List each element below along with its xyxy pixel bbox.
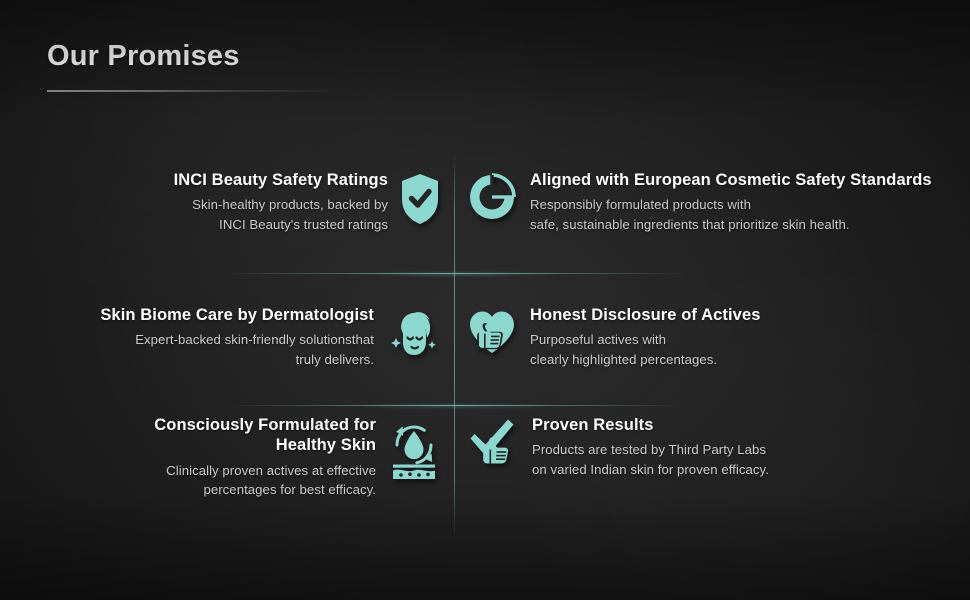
grid-divider-horizontal-bottom <box>225 405 685 406</box>
promise-body: Products are tested by Third Party Labs … <box>532 440 769 478</box>
promise-item-proven-results: Proven Results Products are tested by Th… <box>468 415 898 479</box>
grid-divider-horizontal-top <box>225 273 685 274</box>
promise-body: Responsibly formulated products with saf… <box>530 195 850 233</box>
pie-chart-icon <box>468 173 516 221</box>
promise-title: Consciously Formulated for Healthy Skin <box>100 415 376 456</box>
page-title: Our Promises <box>47 41 347 73</box>
water-drop-skin-icon <box>388 421 440 481</box>
promise-item-european-cosmetic-safety-standards: Aligned with European Cosmetic Safety St… <box>468 170 938 234</box>
promise-body: Expert-backed skin-friendly solutionstha… <box>135 330 374 368</box>
promise-body: Skin-healthy products, backed by INCI Be… <box>192 195 388 233</box>
promise-title: Skin Biome Care by Dermatologist <box>100 305 374 325</box>
promise-title: Aligned with European Cosmetic Safety St… <box>530 170 932 190</box>
promise-item-inci-beauty-safety-ratings: INCI Beauty Safety Ratings Skin-healthy … <box>70 170 440 234</box>
facial-care-icon <box>386 310 440 362</box>
promise-body: Clinically proven actives at effective p… <box>166 461 376 499</box>
heart-hand-icon <box>468 309 516 355</box>
promises-grid: INCI Beauty Safety Ratings Skin-healthy … <box>0 150 970 550</box>
promise-title: Honest Disclosure of Actives <box>530 305 761 325</box>
promise-title: Proven Results <box>532 415 654 435</box>
checkmark-thumb-icon <box>468 417 518 465</box>
shield-check-icon <box>400 173 440 225</box>
promise-title: INCI Beauty Safety Ratings <box>174 170 388 190</box>
promises-banner: Our Promises INCI Beauty Safety Ratings … <box>0 0 970 600</box>
grid-divider-vertical <box>454 152 455 540</box>
promise-item-honest-disclosure-of-actives: Honest Disclosure of Actives Purposeful … <box>468 305 898 369</box>
header: Our Promises <box>47 41 347 92</box>
promise-item-consciously-formulated: Consciously Formulated for Healthy Skin … <box>100 415 440 499</box>
promise-item-skin-biome-care: Skin Biome Care by Dermatologist Expert-… <box>40 305 440 369</box>
promise-body: Purposeful actives with clearly highligh… <box>530 330 717 368</box>
title-divider <box>47 90 347 92</box>
